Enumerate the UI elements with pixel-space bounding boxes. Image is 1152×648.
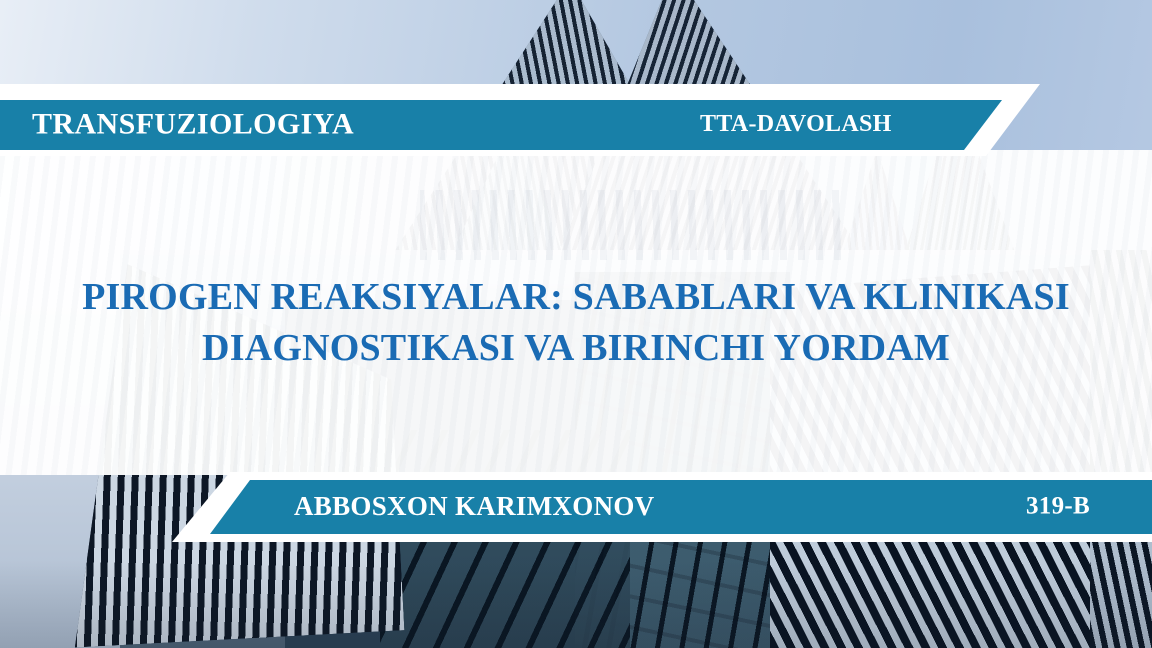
footer-banner: ABBOSXON KARIMXONOV 319-B [172, 472, 1152, 542]
group-label: 319-B [1026, 492, 1090, 520]
title-line-1: PIROGEN REAKSIYALAR: SABABLARI VA KLINIK… [0, 272, 1152, 323]
bottom-shadow-haze [0, 560, 1152, 648]
presentation-slide: TRANSFUZIOLOGIYA TTA-DAVOLASH PIROGEN RE… [0, 0, 1152, 648]
title-line-2: DIAGNOSTIKASI VA BIRINCHI YORDAM [0, 323, 1152, 374]
author-label: ABBOSXON KARIMXONOV [294, 491, 654, 522]
page-title: PIROGEN REAKSIYALAR: SABABLARI VA KLINIK… [0, 272, 1152, 373]
institution-label: TTA-DAVOLASH [700, 111, 892, 138]
header-banner-bar: TRANSFUZIOLOGIYA TTA-DAVOLASH [0, 100, 1002, 150]
footer-banner-bar: ABBOSXON KARIMXONOV 319-B [210, 480, 1152, 534]
subject-label: TRANSFUZIOLOGIYA [32, 107, 354, 141]
header-banner: TRANSFUZIOLOGIYA TTA-DAVOLASH [0, 84, 1040, 156]
panel-watermark-highlight [420, 190, 850, 260]
